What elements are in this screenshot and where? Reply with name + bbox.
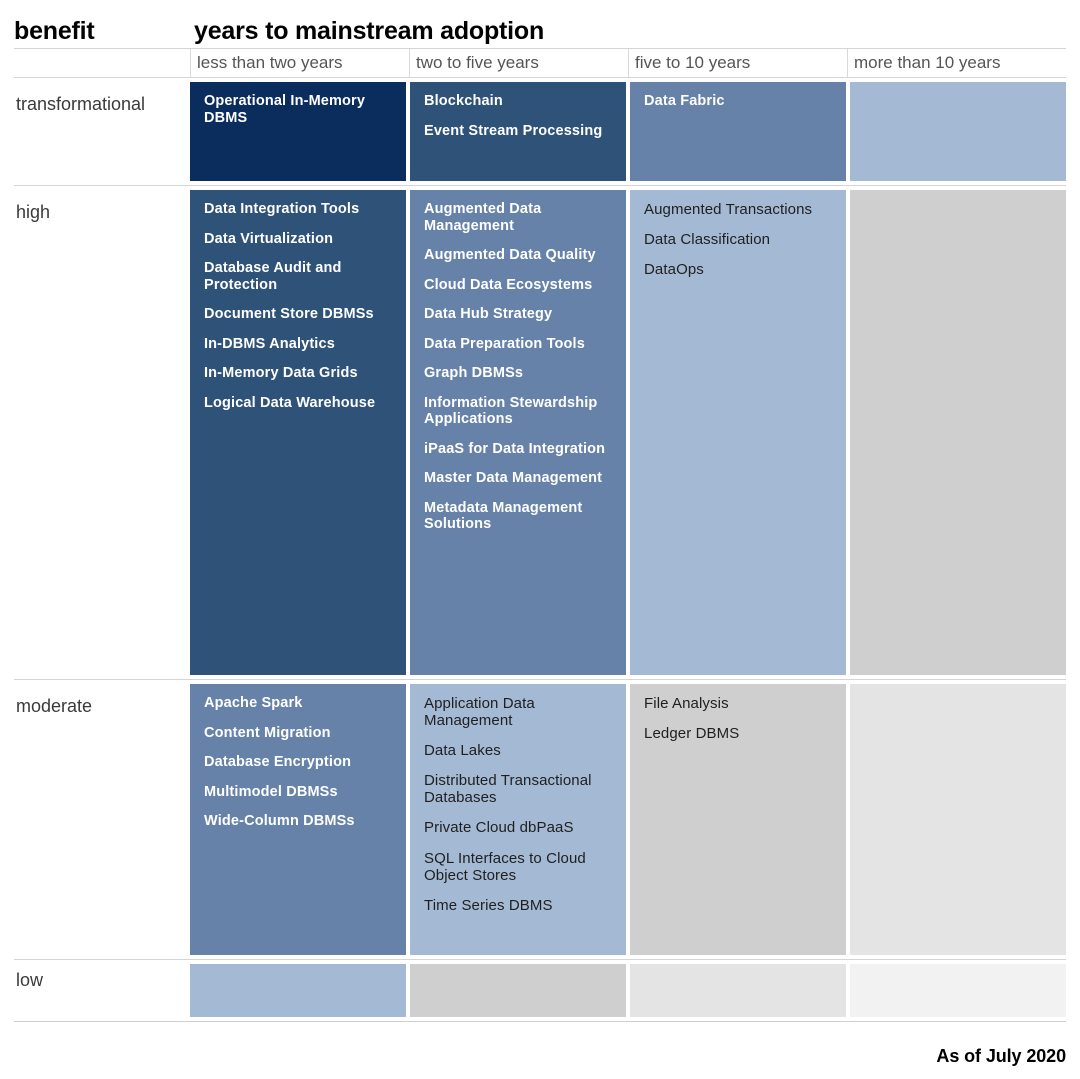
matrix-cell-item: Augmented Data Management bbox=[424, 201, 614, 234]
matrix-row-high: highData Integration ToolsData Virtualiz… bbox=[14, 186, 1066, 680]
matrix-cell-item: Apache Spark bbox=[204, 695, 394, 712]
matrix-row-cells: Operational In-Memory DBMSBlockchainEven… bbox=[190, 78, 1066, 185]
matrix-cell[interactable]: Data Integration ToolsData Virtualizatio… bbox=[190, 190, 406, 675]
matrix-cell-item: Database Encryption bbox=[204, 754, 394, 771]
matrix-cell-item: Event Stream Processing bbox=[424, 123, 614, 140]
matrix-cell-item: Logical Data Warehouse bbox=[204, 395, 394, 412]
matrix-cell-item: Data Fabric bbox=[644, 93, 834, 110]
matrix-row-moderate: moderateApache SparkContent MigrationDat… bbox=[14, 680, 1066, 960]
matrix-cell-item: Data Hub Strategy bbox=[424, 306, 614, 323]
matrix-cell[interactable] bbox=[850, 82, 1066, 181]
matrix-cell-item: Document Store DBMSs bbox=[204, 306, 394, 323]
priority-matrix: benefit years to mainstream adoption les… bbox=[0, 0, 1080, 1079]
matrix-row-transformational: transformationalOperational In-Memory DB… bbox=[14, 78, 1066, 186]
matrix-cell-item: Application Data Management bbox=[424, 695, 614, 729]
matrix-cell-item: Master Data Management bbox=[424, 470, 614, 487]
matrix-cell-item: Cloud Data Ecosystems bbox=[424, 277, 614, 294]
matrix-cell-item: Blockchain bbox=[424, 93, 614, 110]
matrix-cell[interactable] bbox=[850, 190, 1066, 675]
matrix-cell-item: Private Cloud dbPaaS bbox=[424, 819, 614, 836]
matrix-cell-item: Time Series DBMS bbox=[424, 897, 614, 914]
matrix-cell[interactable]: Application Data ManagementData LakesDis… bbox=[410, 684, 626, 955]
column-header-two-to-five-years: two to five years bbox=[409, 49, 628, 77]
column-header-less-than-two-years: less than two years bbox=[190, 49, 409, 77]
matrix-cell-item: Information Stewardship Applications bbox=[424, 395, 614, 428]
matrix-cell[interactable]: Operational In-Memory DBMS bbox=[190, 82, 406, 181]
matrix-cell[interactable]: Augmented TransactionsData Classificatio… bbox=[630, 190, 846, 675]
matrix-cell-item: Data Integration Tools bbox=[204, 201, 394, 218]
column-header-more-than-10-years: more than 10 years bbox=[847, 49, 1066, 77]
row-label-transformational: transformational bbox=[14, 78, 190, 185]
matrix-cell-item: Data Preparation Tools bbox=[424, 336, 614, 353]
matrix-row-cells: Data Integration ToolsData Virtualizatio… bbox=[190, 186, 1066, 679]
matrix-cell-item: DataOps bbox=[644, 261, 834, 278]
matrix-cell-item: Augmented Transactions bbox=[644, 201, 834, 218]
matrix-cell-item: File Analysis bbox=[644, 695, 834, 712]
matrix-cell-item: Graph DBMSs bbox=[424, 365, 614, 382]
matrix-cell-item: Database Audit and Protection bbox=[204, 260, 394, 293]
matrix-cell[interactable] bbox=[850, 964, 1066, 1017]
matrix-cell[interactable] bbox=[630, 964, 846, 1017]
matrix-cell-item: Content Migration bbox=[204, 725, 394, 742]
matrix-body: transformationalOperational In-Memory DB… bbox=[14, 78, 1066, 1022]
matrix-cell-item: Metadata Management Solutions bbox=[424, 500, 614, 533]
matrix-cell[interactable]: BlockchainEvent Stream Processing bbox=[410, 82, 626, 181]
matrix-cell-item: In-DBMS Analytics bbox=[204, 336, 394, 353]
matrix-cell-item: Data Virtualization bbox=[204, 231, 394, 248]
matrix-cell[interactable]: File AnalysisLedger DBMS bbox=[630, 684, 846, 955]
matrix-title-row: benefit years to mainstream adoption bbox=[14, 0, 1066, 49]
matrix-cell-item: Augmented Data Quality bbox=[424, 247, 614, 264]
matrix-cell[interactable] bbox=[190, 964, 406, 1017]
row-label-low: low bbox=[14, 960, 190, 1021]
matrix-cell-item: Data Lakes bbox=[424, 742, 614, 759]
row-label-moderate: moderate bbox=[14, 680, 190, 959]
matrix-cell-item: iPaaS for Data Integration bbox=[424, 441, 614, 458]
matrix-cell-item: Distributed Transactional Databases bbox=[424, 772, 614, 806]
column-header-spacer bbox=[14, 49, 190, 77]
matrix-cell-item: Ledger DBMS bbox=[644, 725, 834, 742]
matrix-cell[interactable] bbox=[850, 684, 1066, 955]
matrix-cell[interactable]: Apache SparkContent MigrationDatabase En… bbox=[190, 684, 406, 955]
column-header-row: less than two years two to five years fi… bbox=[14, 49, 1066, 78]
benefit-axis-title: benefit bbox=[14, 18, 190, 48]
years-axis-title: years to mainstream adoption bbox=[190, 18, 1066, 48]
matrix-row-low: low bbox=[14, 960, 1066, 1022]
matrix-cell-item: Multimodel DBMSs bbox=[204, 784, 394, 801]
column-header-five-to-10-years: five to 10 years bbox=[628, 49, 847, 77]
matrix-cell[interactable]: Data Fabric bbox=[630, 82, 846, 181]
row-label-high: high bbox=[14, 186, 190, 679]
matrix-cell-item: Wide-Column DBMSs bbox=[204, 813, 394, 830]
matrix-cell-item: Data Classification bbox=[644, 231, 834, 248]
matrix-cell[interactable] bbox=[410, 964, 626, 1017]
matrix-cell-item: In-Memory Data Grids bbox=[204, 365, 394, 382]
matrix-cell-item: Operational In-Memory DBMS bbox=[204, 93, 394, 126]
matrix-row-cells bbox=[190, 960, 1066, 1021]
as-of-date: As of July 2020 bbox=[936, 1046, 1066, 1067]
matrix-cell-item: SQL Interfaces to Cloud Object Stores bbox=[424, 850, 614, 884]
matrix-row-cells: Apache SparkContent MigrationDatabase En… bbox=[190, 680, 1066, 959]
matrix-cell[interactable]: Augmented Data ManagementAugmented Data … bbox=[410, 190, 626, 675]
